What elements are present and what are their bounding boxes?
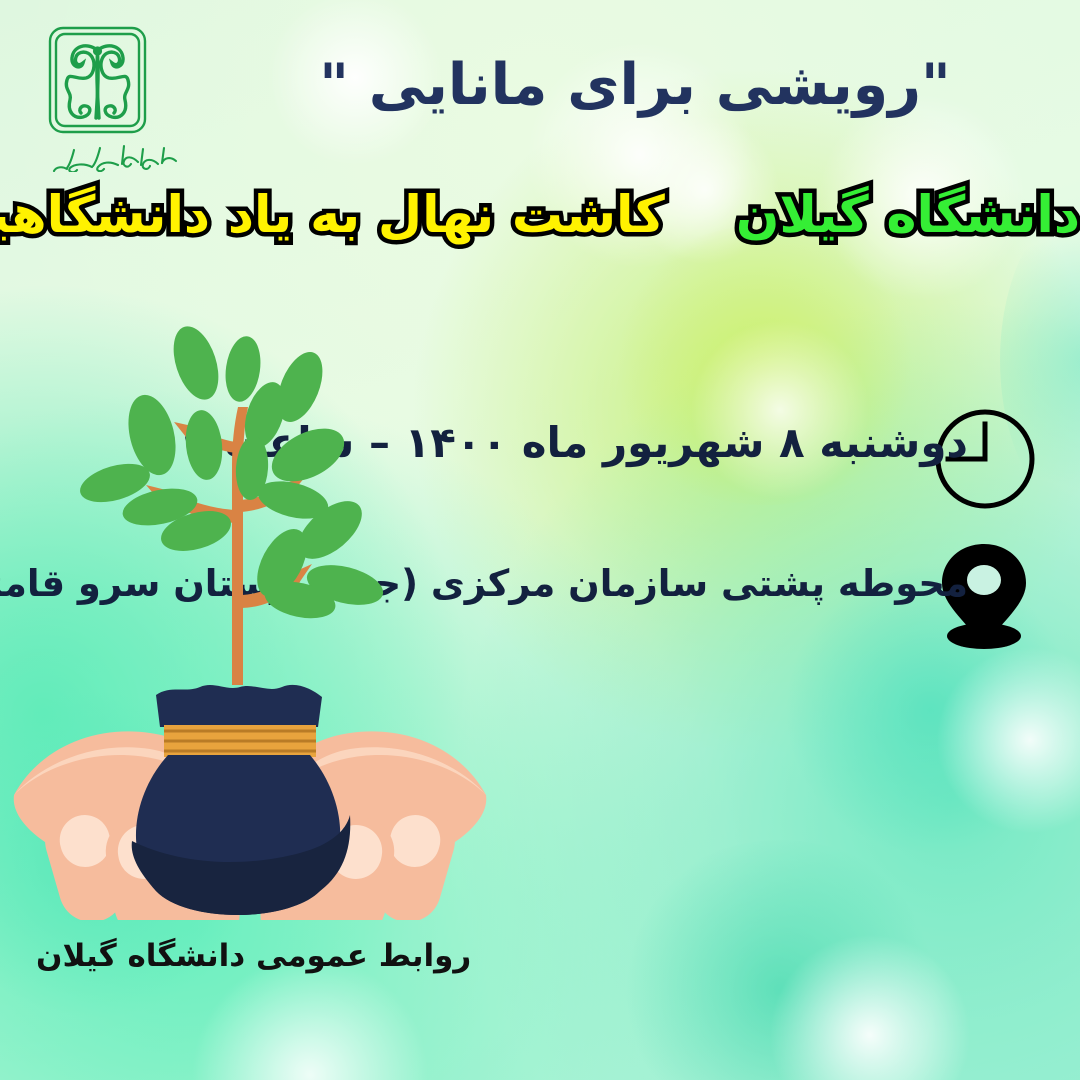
subtitle-part-yellow: کاشت نهال به یاد دانشگاهیان درگذشته	[0, 186, 665, 245]
soil-sack	[132, 685, 351, 915]
poster-canvas: "رویشی برای مانایی " دانشگاه گیلان کاشت …	[0, 0, 1080, 1080]
poster-subtitle: دانشگاه گیلان کاشت نهال به یاد دانشگاهیا…	[0, 190, 1080, 241]
subtitle-part-green: دانشگاه گیلان	[736, 186, 1080, 245]
footer-credit: روابط عمومی دانشگاه گیلان	[36, 938, 471, 974]
page-title: "رویشی برای مانایی "	[0, 52, 1080, 118]
tree-leaves	[76, 321, 387, 624]
hands-holding-sapling-illustration	[0, 295, 500, 920]
